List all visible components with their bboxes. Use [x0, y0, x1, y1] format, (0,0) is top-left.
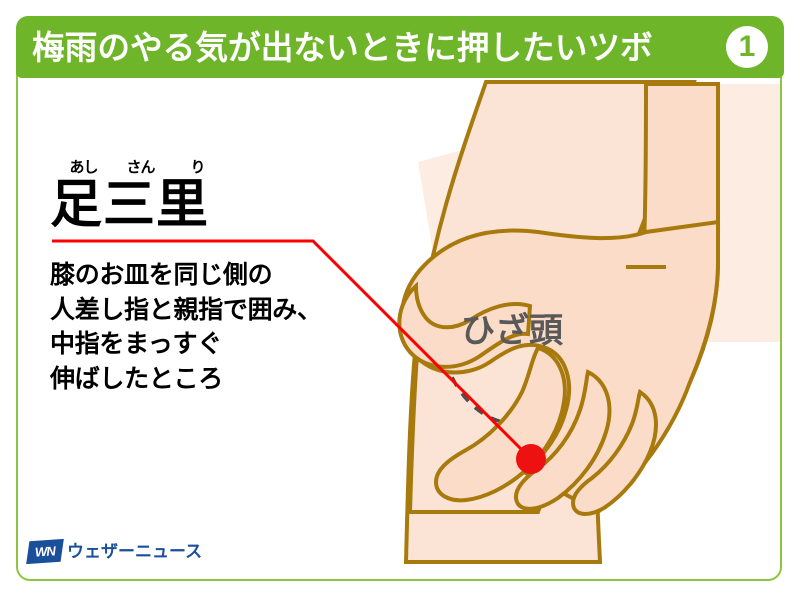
weathernews-logo: WN ウェザーニュース	[28, 540, 202, 563]
description-line-1: 膝のお皿を同じ側の	[50, 258, 350, 293]
term-label-block: あし さん り 足三里	[50, 160, 350, 231]
kneecap-label: ひざ頭	[461, 311, 564, 350]
header-bar: 梅雨のやる気が出ないときに押したいツボ 1	[16, 16, 784, 78]
furigana-row: あし さん り	[50, 160, 350, 175]
page-title: 梅雨のやる気が出ないときに押したいツボ	[32, 31, 719, 64]
brand-name: ウェザーニュース	[67, 543, 202, 560]
description-line-4: 伸ばしたところ	[50, 362, 350, 397]
acupoint-dot	[516, 444, 546, 474]
furigana-2: さん	[112, 160, 169, 175]
acupoint-name: 足三里	[50, 179, 350, 231]
wn-logo-icon: WN	[26, 539, 64, 564]
infographic-page: ひざ頭 梅雨のやる気が出ないときに押したいツボ 1 あし さん り 足三里 膝の…	[0, 0, 800, 600]
description-line-3: 中指をまっすぐ	[50, 327, 350, 362]
wn-logo-text: WN	[35, 544, 56, 558]
description-text: 膝のお皿を同じ側の 人差し指と親指で囲み、 中指をまっすぐ 伸ばしたところ	[50, 258, 350, 396]
description-line-2: 人差し指と親指で囲み、	[50, 293, 350, 328]
step-number-badge: 1	[726, 26, 768, 68]
furigana-1: あし	[55, 160, 112, 175]
furigana-3: り	[169, 160, 226, 175]
